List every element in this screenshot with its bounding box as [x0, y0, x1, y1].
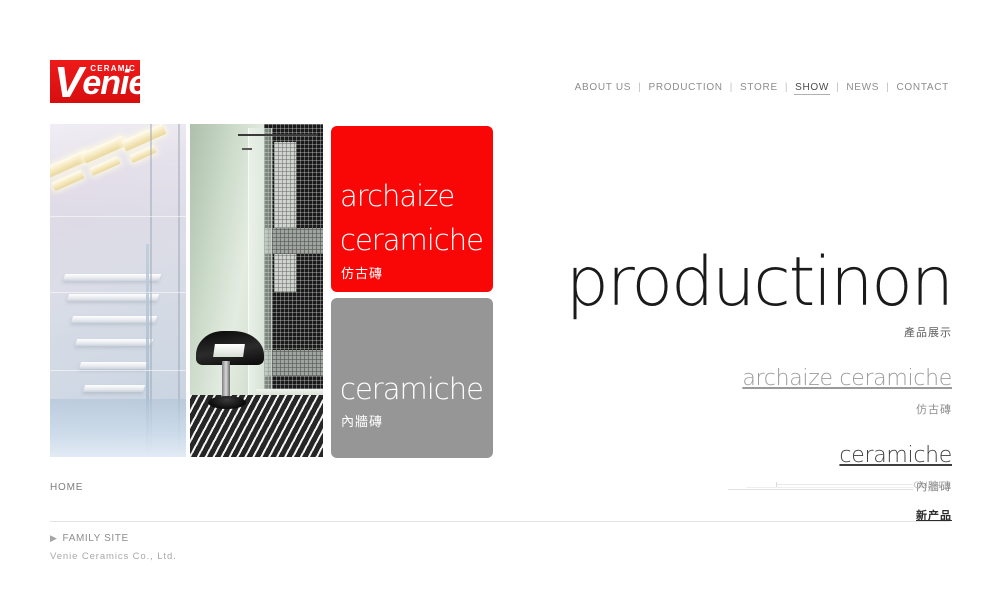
stair-step: [83, 385, 145, 392]
nav-separator: |: [880, 82, 895, 93]
slider-handle[interactable]: [776, 482, 777, 487]
site-logo[interactable]: Venie CERAMIC: [50, 60, 140, 103]
photo-bathroom-mosaic[interactable]: [190, 124, 323, 457]
tile-grey-chinese: 內牆磚: [341, 411, 383, 430]
home-link[interactable]: HOME: [50, 482, 83, 493]
shower-rail-bracket: [242, 148, 252, 150]
folded-towel: [213, 344, 245, 357]
main-stage: archaize ceramiche 仿古磚 ceramiche 內牆磚 pro…: [0, 118, 998, 468]
nav-item-store[interactable]: STORE: [739, 82, 779, 93]
slider-track-tertiary: [746, 487, 913, 488]
photo-stairway-interior[interactable]: [50, 124, 186, 457]
category-chinese-archaize: 仿古磚: [560, 401, 952, 417]
mosaic-accent-band: [264, 350, 323, 376]
onoff-slider[interactable]: ON/OFF: [728, 479, 950, 497]
slider-track-secondary: [776, 484, 913, 485]
triangle-right-icon: ▶: [50, 533, 58, 543]
nav-item-show[interactable]: SHOW: [794, 82, 830, 95]
slider-track[interactable]: [728, 489, 913, 490]
nav-separator: |: [830, 82, 845, 93]
category-tile-ceramiche[interactable]: ceramiche 內牆磚: [331, 298, 493, 458]
site-footer: ▶FAMILY SITE Venie Ceramics Co., Ltd.: [50, 528, 550, 562]
copyright-text: Venie Ceramics Co., Ltd.: [50, 551, 550, 562]
mosaic-accent-band: [264, 228, 323, 254]
glass-reflection-band: [50, 370, 186, 371]
nav-separator: |: [779, 82, 794, 93]
footer-divider: [50, 521, 950, 522]
nav-item-about-us[interactable]: ABOUT US: [574, 82, 633, 93]
logo-tagline: CERAMIC: [90, 64, 136, 73]
family-site-label: FAMILY SITE: [63, 533, 129, 544]
shower-glass-panel: [248, 128, 272, 413]
category-link-archaize-ceramiche[interactable]: archaize ceramiche: [560, 366, 952, 391]
stair-step: [71, 316, 157, 323]
page-title: productinon: [560, 248, 952, 318]
stair-step: [75, 339, 153, 346]
nav-item-production[interactable]: PRODUCTION: [648, 82, 724, 93]
slider-label: ON/OFF: [914, 480, 950, 490]
tile-red-line1: archaize: [340, 179, 454, 213]
category-tile-archaize-ceramiche[interactable]: archaize ceramiche 仿古磚: [331, 126, 493, 292]
category-link-ceramiche[interactable]: ceramiche: [560, 443, 952, 468]
mosaic-light-panel: [274, 142, 296, 292]
ceiling-light: [82, 136, 127, 164]
glass-reflection-band: [50, 216, 186, 217]
ceiling-light: [122, 124, 167, 151]
stool-base: [208, 396, 246, 409]
nav-separator: |: [632, 82, 647, 93]
tile-grey-line1: ceramiche: [340, 372, 483, 406]
nav-item-news[interactable]: NEWS: [845, 82, 880, 93]
tile-red-line2: ceramiche: [340, 223, 483, 257]
family-site-link[interactable]: ▶FAMILY SITE: [50, 533, 129, 544]
stair-step: [79, 362, 149, 369]
nav-item-contact[interactable]: CONTACT: [896, 82, 951, 93]
site-header: Venie CERAMIC ABOUT US|PRODUCTION|STORE|…: [0, 0, 998, 118]
tile-red-chinese: 仿古磚: [341, 263, 383, 282]
stool-stem: [222, 361, 230, 399]
shower-rail: [238, 134, 318, 136]
primary-navigation: ABOUT US|PRODUCTION|STORE|SHOW|NEWS|CONT…: [574, 82, 950, 93]
page-subtitle: 產品展示: [560, 324, 952, 340]
glass-reflection-band: [50, 292, 186, 293]
nav-separator: |: [724, 82, 739, 93]
floor-surface: [50, 399, 186, 457]
